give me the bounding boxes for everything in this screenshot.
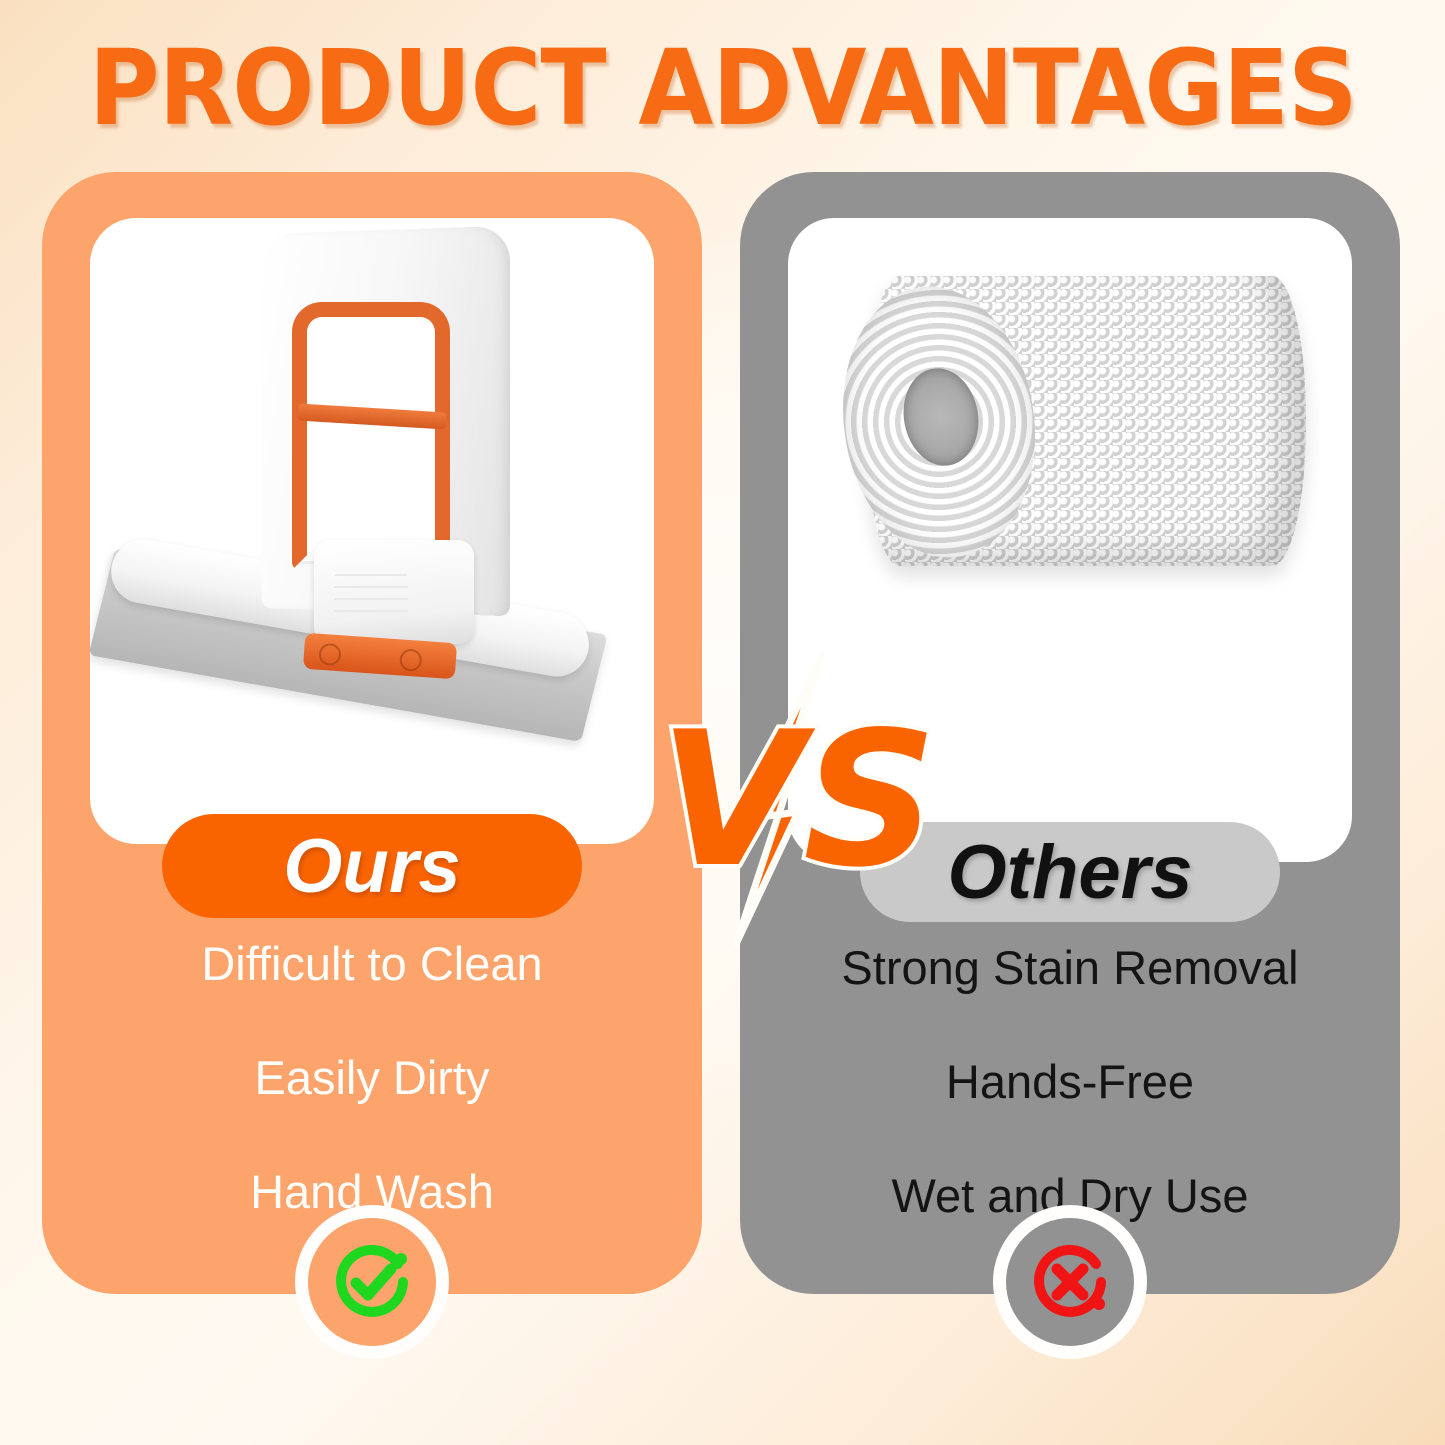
panel-label-ours-text: Ours <box>283 823 460 910</box>
comparison-card-ours: Ours Difficult to Clean Easily Dirty Han… <box>42 172 702 1294</box>
check-circle-icon <box>324 1234 420 1330</box>
squeegee-hinge-box <box>314 540 474 644</box>
squeegee-orange-handle <box>292 302 450 570</box>
panel-label-others-text: Others <box>948 829 1193 916</box>
page-title: PRODUCT ADVANTAGES <box>0 34 1445 142</box>
feature-item: Wet and Dry Use <box>740 1172 1400 1219</box>
status-badge-others <box>1006 1218 1134 1346</box>
versus-emblem: VS <box>702 652 902 952</box>
product-image-ours <box>90 218 654 844</box>
cross-circle-icon <box>1022 1234 1118 1330</box>
panel-label-ours: Ours <box>162 814 582 918</box>
page-title-text: PRODUCT ADVANTAGES <box>89 34 1357 142</box>
product-comparison-poster: PRODUCT ADVANTAGES Ours Difficult to Cle… <box>0 0 1445 1445</box>
feature-list-others: Strong Stain Removal Hands-Free Wet and … <box>740 944 1400 1219</box>
status-badge-ours <box>308 1218 436 1346</box>
feature-item: Hands-Free <box>740 1058 1400 1105</box>
feature-list-ours: Difficult to Clean Easily Dirty Hand Was… <box>42 940 702 1215</box>
feature-item: Difficult to Clean <box>42 940 702 987</box>
vs-label-text: VS <box>659 691 937 908</box>
feature-item: Easily Dirty <box>42 1054 702 1101</box>
vs-lightning-icon: VS <box>702 652 902 952</box>
feature-item: Hand Wash <box>42 1168 702 1215</box>
